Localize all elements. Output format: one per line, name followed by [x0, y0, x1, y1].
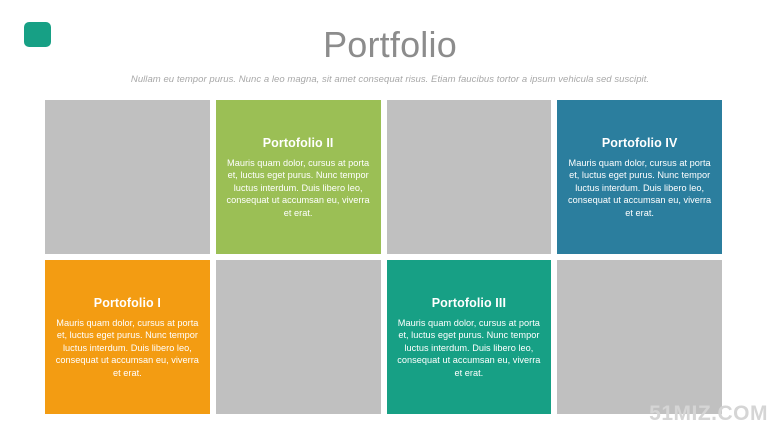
watermark: 51MIZ.COM	[649, 402, 768, 426]
portfolio-card[interactable]: Portofolio IIMauris quam dolor, cursus a…	[216, 100, 381, 254]
portfolio-card[interactable]: Portofolio IIIMauris quam dolor, cursus …	[387, 260, 552, 414]
page-subtitle: Nullam eu tempor purus. Nunc a leo magna…	[0, 74, 780, 86]
portfolio-card-placeholder[interactable]	[557, 260, 722, 414]
portfolio-card-placeholder[interactable]	[45, 100, 210, 254]
portfolio-card[interactable]: Portofolio IVMauris quam dolor, cursus a…	[557, 100, 722, 254]
portfolio-card[interactable]: Portofolio IMauris quam dolor, cursus at…	[45, 260, 210, 414]
portfolio-card-placeholder[interactable]	[216, 260, 381, 414]
portfolio-card-body: Mauris quam dolor, cursus at porta et, l…	[397, 317, 542, 379]
portfolio-card-body: Mauris quam dolor, cursus at porta et, l…	[55, 317, 200, 379]
portfolio-card-title: Portofolio I	[94, 295, 161, 311]
portfolio-card-body: Mauris quam dolor, cursus at porta et, l…	[567, 157, 712, 219]
portfolio-card-title: Portofolio II	[263, 135, 334, 151]
page-title: Portfolio	[0, 24, 780, 66]
portfolio-card-body: Mauris quam dolor, cursus at porta et, l…	[226, 157, 371, 219]
slide-canvas: Portfolio Nullam eu tempor purus. Nunc a…	[0, 0, 780, 439]
slide-header: Portfolio Nullam eu tempor purus. Nunc a…	[0, 24, 780, 86]
portfolio-card-grid: Portofolio IIMauris quam dolor, cursus a…	[45, 100, 722, 414]
portfolio-card-placeholder[interactable]	[387, 100, 552, 254]
portfolio-card-title: Portofolio III	[432, 295, 506, 311]
portfolio-card-title: Portofolio IV	[602, 135, 678, 151]
